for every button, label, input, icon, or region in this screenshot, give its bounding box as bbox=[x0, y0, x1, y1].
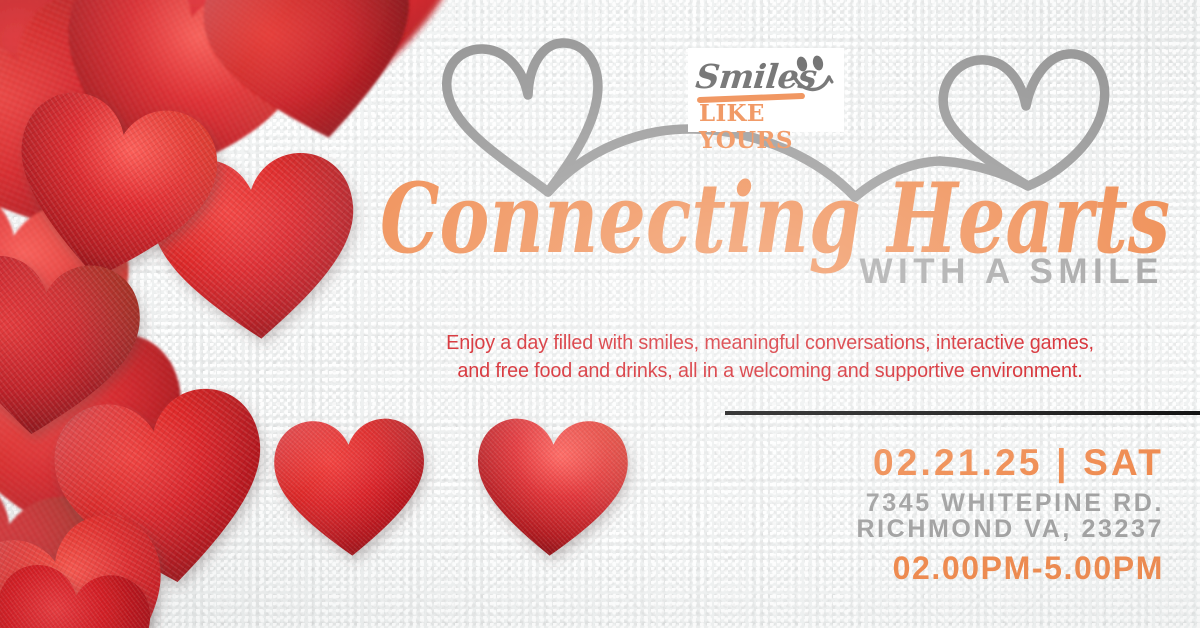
event-details: 02.21.25 | SAT 7345 WHITEPINE RD. RICHMO… bbox=[720, 440, 1182, 588]
event-address-line-2: RICHMOND VA, 23237 bbox=[720, 516, 1164, 542]
smiley-face-icon bbox=[789, 55, 837, 101]
description-line-2: and free food and drinks, all in a welco… bbox=[384, 357, 1156, 385]
event-address-line-1: 7345 WHITEPINE RD. bbox=[720, 490, 1164, 516]
event-time: 02.00PM-5.00PM bbox=[720, 548, 1164, 588]
brand-logo[interactable]: Smiles LIKE YOURS bbox=[688, 48, 844, 132]
event-description: Enjoy a day filled with smiles, meaningf… bbox=[384, 329, 1156, 385]
event-flyer: Smiles LIKE YOURS Connecting Hearts WITH… bbox=[0, 0, 1200, 628]
description-line-1: Enjoy a day filled with smiles, meaningf… bbox=[384, 329, 1156, 357]
logo-caps-word: LIKE YOURS bbox=[699, 100, 841, 154]
headline-subtitle: WITH A SMILE bbox=[380, 252, 1170, 292]
divider-rule bbox=[725, 411, 1200, 415]
event-date: 02.21.25 | SAT bbox=[720, 440, 1164, 486]
